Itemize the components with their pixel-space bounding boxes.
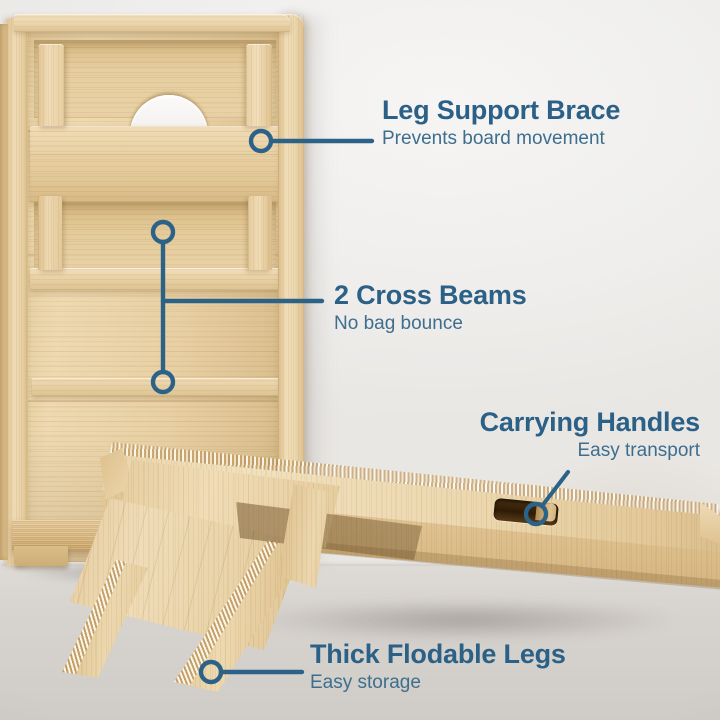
standing-board-foot-left — [14, 546, 68, 566]
callout-subtitle: Easy transport — [480, 440, 700, 462]
standing-board-left-edge — [0, 24, 8, 560]
cross-beam-bottom — [30, 268, 280, 290]
callout-subtitle: Prevents board movement — [382, 128, 620, 150]
leg-support-brace-right-upper — [246, 44, 272, 126]
callout-title: Thick Flodable Legs — [310, 640, 566, 668]
product-infographic: Leg Support Brace Prevents board movemen… — [0, 0, 720, 720]
callout-cross-beams: 2 Cross Beams No bag bounce — [334, 281, 527, 335]
leg-support-brace-left-lower — [38, 196, 62, 270]
standing-board-mid-bay — [34, 202, 276, 270]
cross-beam-lower-rail — [32, 378, 280, 396]
callout-foldable-legs: Thick Flodable Legs Easy storage — [310, 640, 566, 694]
callout-title: Carrying Handles — [480, 408, 700, 436]
carrying-handle-slot-inner-wood — [535, 502, 557, 522]
callout-title: 2 Cross Beams — [334, 281, 527, 309]
standing-board-left-rail — [6, 18, 28, 566]
callout-subtitle: No bag bounce — [334, 313, 527, 335]
leg-support-brace-right-lower — [248, 196, 272, 270]
callout-title: Leg Support Brace — [382, 96, 620, 124]
callout-subtitle: Easy storage — [310, 672, 566, 694]
standing-board-top-rail — [14, 14, 290, 32]
callout-leg-support-brace: Leg Support Brace Prevents board movemen… — [382, 96, 620, 150]
callout-carrying-handles: Carrying Handles Easy transport — [480, 408, 700, 462]
leg-support-brace-left-upper — [38, 44, 64, 126]
cross-beam-top — [30, 126, 280, 202]
